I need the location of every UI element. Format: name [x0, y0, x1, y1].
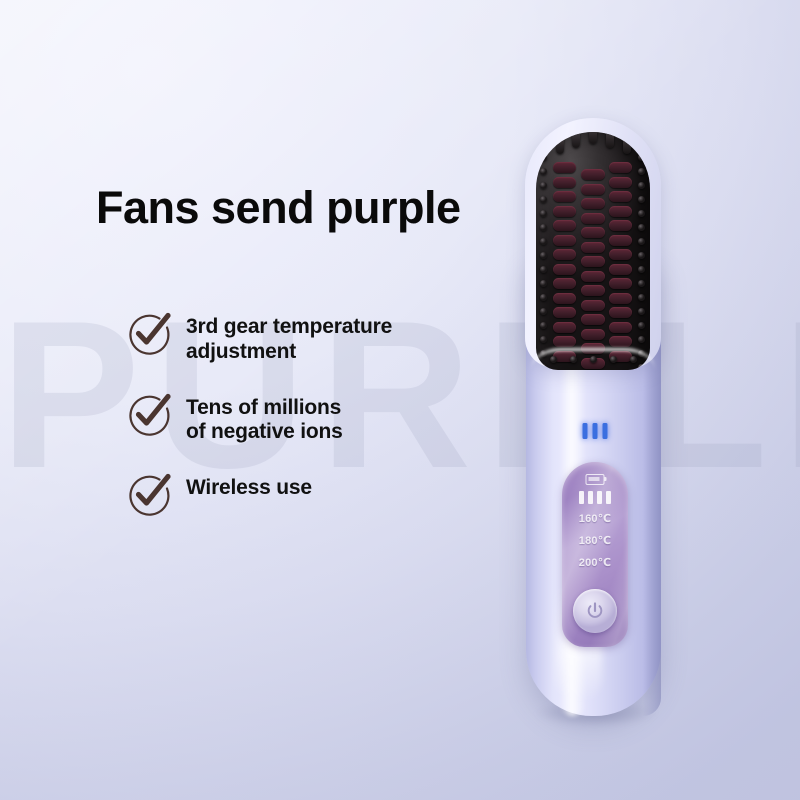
heating-plate	[553, 322, 576, 333]
bristle-pin	[638, 224, 645, 231]
heating-plate	[553, 191, 576, 202]
bristle-pin	[540, 182, 547, 189]
heating-plate	[609, 336, 632, 347]
bristle-pin	[638, 336, 645, 343]
heating-plate	[581, 314, 605, 325]
check-circle-icon	[126, 471, 172, 517]
ion-bar	[593, 423, 598, 439]
brush-bristle-bed	[536, 132, 650, 370]
bristle-pin	[638, 238, 645, 245]
bristle-pin	[540, 154, 547, 161]
feature-line-2: adjustment	[186, 340, 296, 363]
bristle-pin	[540, 224, 547, 231]
heating-plate	[553, 220, 576, 231]
bristle-pin	[638, 308, 645, 315]
heating-plate	[581, 169, 605, 180]
heating-plate	[581, 285, 605, 296]
heating-plate	[553, 307, 576, 318]
bristle-pin-top	[606, 132, 614, 148]
bristle-pin	[638, 266, 645, 273]
heating-plate	[609, 191, 632, 202]
bristle-pin	[540, 168, 547, 175]
heating-plate	[609, 249, 632, 260]
heating-plate	[553, 264, 576, 275]
heating-plate	[609, 220, 632, 231]
battery-icon	[586, 474, 605, 485]
ion-bar	[583, 423, 588, 439]
temperature-option-1[interactable]: 160℃	[562, 512, 628, 525]
bristle-pin-top	[572, 132, 580, 148]
brush-head	[517, 120, 669, 390]
heating-plate	[553, 206, 576, 217]
bristle-pin-top	[556, 134, 564, 154]
battery-bar	[606, 491, 611, 504]
feature-line-1: 3rd gear temperature	[186, 315, 392, 338]
battery-bar	[588, 491, 593, 504]
bristle-pin	[540, 336, 547, 343]
temperature-readout-list: 160℃ 180℃ 200℃	[562, 512, 628, 578]
list-item: Wireless use	[126, 473, 486, 517]
heating-plate	[581, 227, 605, 238]
bristle-pin	[540, 322, 547, 329]
heating-plate	[553, 177, 576, 188]
feature-line-1: Tens of millions	[186, 396, 341, 419]
feature-label: Tens of millions of negative ions	[186, 393, 343, 446]
temperature-option-2[interactable]: 180℃	[562, 534, 628, 547]
heating-plate	[581, 329, 605, 340]
heating-plate	[609, 162, 632, 173]
bristle-pin	[540, 308, 547, 315]
heating-plate	[553, 278, 576, 289]
brush-rim-highlight	[531, 348, 655, 391]
battery-bar	[579, 491, 584, 504]
heating-plate	[581, 256, 605, 267]
heating-plate	[609, 293, 632, 304]
list-item: 3rd gear temperature adjustment	[126, 312, 486, 365]
heating-plate	[581, 198, 605, 209]
feature-line-1: Wireless use	[186, 476, 312, 499]
bristle-pin	[638, 280, 645, 287]
feature-label: Wireless use	[186, 473, 312, 501]
bristle-pin	[638, 252, 645, 259]
battery-level-bars	[579, 491, 611, 504]
bristle-pin-top	[623, 134, 631, 154]
heating-plate	[581, 242, 605, 253]
heating-plate	[581, 213, 605, 224]
bristle-pin	[540, 266, 547, 273]
heating-plate	[609, 264, 632, 275]
heating-plate	[581, 184, 605, 195]
power-button[interactable]	[573, 589, 617, 633]
bristle-pin	[638, 154, 645, 161]
bristle-pin	[540, 196, 547, 203]
control-display-panel[interactable]: 160℃ 180℃ 200℃	[562, 462, 628, 647]
heating-plate	[609, 307, 632, 318]
bristle-pin	[540, 294, 547, 301]
page-title: Fans send purple	[96, 182, 461, 234]
check-circle-icon	[126, 391, 172, 437]
bristle-pin	[638, 182, 645, 189]
heating-plate-grid	[536, 132, 650, 370]
heating-plate	[553, 162, 576, 173]
ion-bar	[603, 423, 608, 439]
temperature-option-3[interactable]: 200℃	[562, 556, 628, 569]
heating-plate	[553, 235, 576, 246]
heating-plate	[553, 249, 576, 260]
power-icon	[585, 601, 605, 621]
bristle-pin	[638, 294, 645, 301]
heating-plate	[581, 300, 605, 311]
heating-plate	[581, 271, 605, 282]
bristle-pin	[638, 210, 645, 217]
negative-ion-indicator	[583, 423, 608, 439]
bristle-pin	[638, 168, 645, 175]
bristle-pin	[638, 322, 645, 329]
list-item: Tens of millions of negative ions	[126, 393, 486, 446]
feature-line-2: of negative ions	[186, 420, 343, 443]
heating-plate	[553, 293, 576, 304]
heating-plate	[553, 336, 576, 347]
heating-plate	[609, 278, 632, 289]
feature-list: 3rd gear temperature adjustment Tens of …	[126, 312, 486, 517]
battery-bar	[597, 491, 602, 504]
heating-plate	[609, 235, 632, 246]
bristle-pin	[638, 196, 645, 203]
bristle-pin	[540, 210, 547, 217]
bristle-pin	[540, 252, 547, 259]
heating-plate	[609, 206, 632, 217]
check-circle-icon	[126, 310, 172, 356]
product-image: 160℃ 180℃ 200℃	[500, 120, 690, 740]
bristle-pin-top	[589, 132, 597, 144]
feature-label: 3rd gear temperature adjustment	[186, 312, 392, 365]
promo-stage: PURPLE Fans send purple 3rd gear tempera…	[0, 0, 800, 800]
heating-plate	[609, 322, 632, 333]
bristle-pin	[540, 238, 547, 245]
bristle-pin	[540, 280, 547, 287]
heating-plate	[609, 177, 632, 188]
